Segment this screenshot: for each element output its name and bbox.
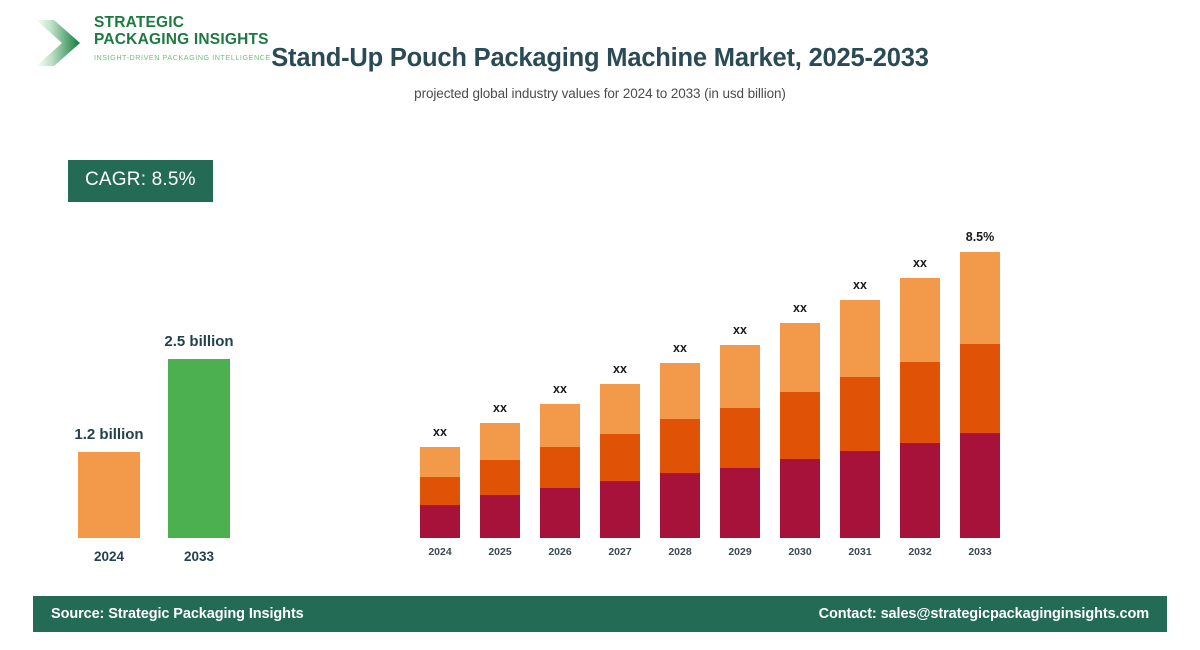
stacked-segment-segment-2 [660,419,700,473]
stacked-bar-column: xx2027 [600,227,640,560]
stacked-segment-segment-2 [720,408,760,468]
stacked-bar-value-label: xx [400,425,480,439]
stacked-segment-segment-2 [600,434,640,481]
stacked-bar-column: xx2029 [720,227,760,560]
stacked-segment-segment-1 [720,468,760,538]
left-bar-2033 [168,359,230,538]
left-bar-value-label: 2.5 billion [119,333,279,350]
yearly-forecast-stacked-chart: xx2024xx2025xx2026xx2027xx2028xx2029xx20… [410,205,1010,560]
stacked-bar-2029 [720,345,760,538]
stacked-segment-segment-2 [840,377,880,451]
stacked-bar-2024 [420,447,460,538]
stacked-segment-segment-1 [660,473,700,538]
logo-tagline: INSIGHT-DRIVEN PACKAGING INTELLIGENCE [94,53,264,62]
stacked-bar-column: xx2032 [900,227,940,560]
footer-bar: Source: Strategic Packaging Insights Con… [33,596,1167,632]
left-bar-2024 [78,452,140,538]
stacked-bar-year-label: 2025 [480,546,520,558]
stacked-segment-segment-1 [420,505,460,538]
footer-source: Source: Strategic Packaging Insights [51,606,304,622]
stacked-segment-segment-1 [480,495,520,538]
stacked-bar-column: xx2024 [420,227,460,560]
stacked-segment-segment-3 [540,404,580,447]
stacked-bar-column: xx2026 [540,227,580,560]
stacked-bar-column: xx2030 [780,227,820,560]
logo-line-1: STRATEGIC [94,14,264,31]
stacked-bar-year-label: 2026 [540,546,580,558]
stacked-segment-segment-3 [780,323,820,392]
stacked-bar-value-label: xx [520,382,600,396]
stacked-bar-2025 [480,423,520,538]
brand-logo: STRATEGIC PACKAGING INSIGHTS INSIGHT-DRI… [32,14,262,74]
endpoint-comparison-chart: 1.2 billion20242.5 billion2033 [50,300,290,570]
logo-line-2: PACKAGING INSIGHTS [94,31,264,48]
stacked-bar-value-label: xx [460,401,540,415]
left-bar-value-label: 1.2 billion [29,426,189,443]
stacked-bar-value-label: xx [640,341,720,355]
stacked-segment-segment-1 [540,488,580,538]
stacked-bar-value-label: xx [880,256,960,270]
chevron-right-icon [32,16,88,70]
stacked-segment-segment-3 [480,423,520,460]
stacked-segment-segment-2 [780,392,820,459]
stacked-bar-2026 [540,404,580,538]
stacked-bar-column: xx2031 [840,227,880,560]
stacked-bar-2033 [960,252,1000,538]
stacked-bar-value-label: 8.5% [940,230,1020,244]
stacked-bar-2030 [780,323,820,538]
stacked-bar-year-label: 2029 [720,546,760,558]
title-block: Stand-Up Pouch Packaging Machine Market,… [270,40,930,101]
stacked-segment-segment-3 [900,278,940,362]
stacked-bar-column: xx2025 [480,227,520,560]
stacked-bar-year-label: 2028 [660,546,700,558]
stacked-bar-year-label: 2033 [960,546,1000,558]
stacked-segment-segment-1 [840,451,880,538]
stacked-segment-segment-3 [660,363,700,419]
cagr-badge: CAGR: 8.5% [68,160,213,202]
left-bar-year-label: 2024 [78,549,140,564]
stacked-segment-segment-1 [600,481,640,538]
stacked-bar-2027 [600,384,640,538]
stacked-segment-segment-3 [420,447,460,477]
stacked-bar-value-label: xx [700,323,780,337]
stacked-segment-segment-2 [900,362,940,443]
stacked-bar-year-label: 2031 [840,546,880,558]
page-title: Stand-Up Pouch Packaging Machine Market,… [270,40,930,76]
stacked-bar-2031 [840,300,880,538]
left-bar-year-label: 2033 [168,549,230,564]
left-bar-column: 1.2 billion [78,452,140,538]
stacked-bar-value-label: xx [580,362,660,376]
page-subtitle: projected global industry values for 202… [270,86,930,101]
stacked-segment-segment-1 [900,443,940,538]
stacked-segment-segment-1 [780,459,820,538]
stacked-bar-year-label: 2024 [420,546,460,558]
stacked-bar-column: xx2028 [660,227,700,560]
stacked-bar-value-label: xx [760,301,840,315]
stacked-bar-value-label: xx [820,278,900,292]
stacked-segment-segment-2 [480,460,520,495]
stacked-segment-segment-3 [840,300,880,377]
stacked-bar-column: 8.5%2033 [960,227,1000,560]
stacked-segment-segment-2 [540,447,580,488]
stacked-segment-segment-3 [600,384,640,434]
stacked-segment-segment-1 [960,433,1000,538]
stacked-segment-segment-2 [960,344,1000,433]
stacked-bar-year-label: 2032 [900,546,940,558]
stacked-segment-segment-3 [960,252,1000,344]
left-bar-column: 2.5 billion [168,359,230,538]
stacked-segment-segment-2 [420,477,460,505]
stacked-bar-year-label: 2030 [780,546,820,558]
stacked-bar-year-label: 2027 [600,546,640,558]
footer-contact: Contact: sales@strategicpackaginginsight… [819,606,1149,622]
stacked-bar-2032 [900,278,940,538]
stacked-segment-segment-3 [720,345,760,408]
stacked-bar-2028 [660,363,700,538]
